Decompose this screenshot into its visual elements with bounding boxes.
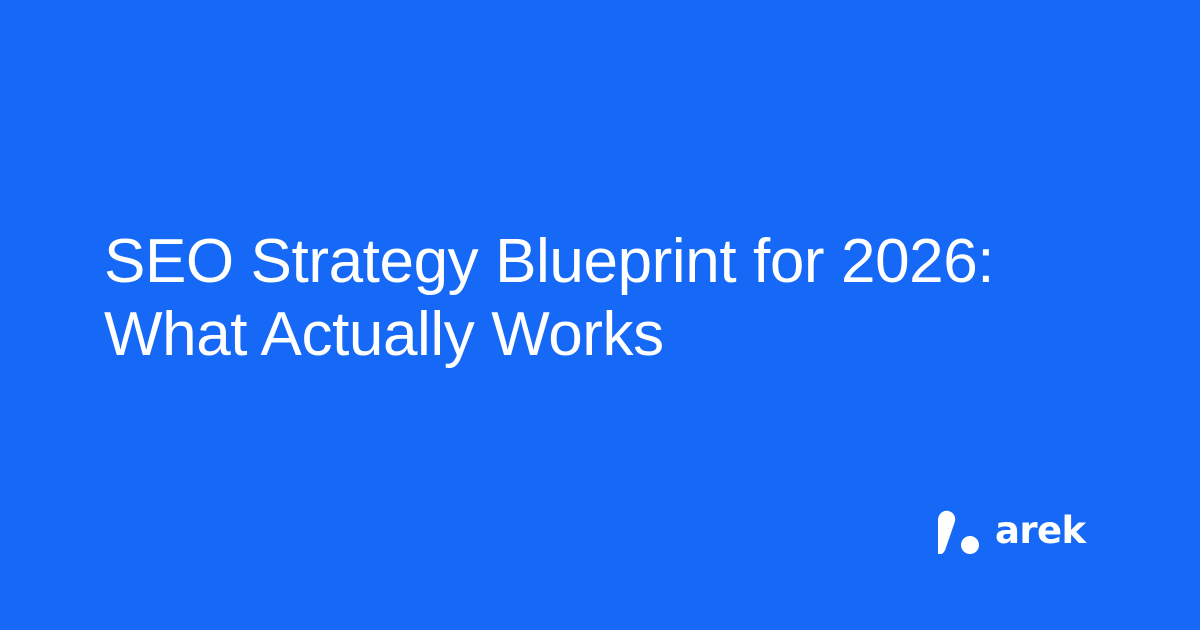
arek-logo-icon (938, 506, 982, 554)
social-share-card: SEO Strategy Blueprint for 2026: What Ac… (0, 0, 1200, 630)
brand-logo[interactable]: arek (938, 506, 1086, 554)
title-line-2: What Actually Works (104, 298, 1024, 371)
brand-wordmark: arek (995, 512, 1086, 549)
page-title: SEO Strategy Blueprint for 2026: What Ac… (104, 225, 1024, 371)
title-line-1: SEO Strategy Blueprint for 2026: (104, 225, 1024, 298)
